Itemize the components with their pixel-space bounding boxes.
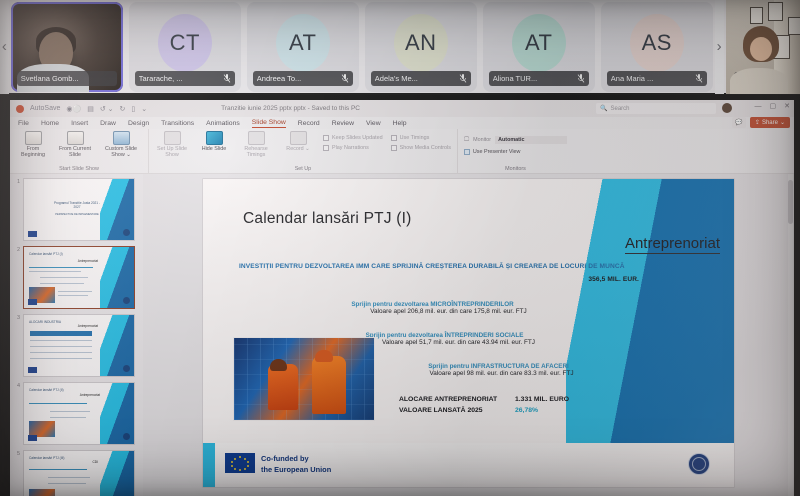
- group-name-start-slide-show: Start Slide Show: [59, 166, 99, 173]
- slide-number: 2: [12, 246, 20, 253]
- ribbon-group-monitors: 🖵 Monitor Automatic Use Presenter View M…: [457, 129, 573, 173]
- play-narrations-label: Play Narrations: [332, 145, 369, 151]
- thumb-seal: [123, 229, 130, 236]
- from-current-slide-button[interactable]: From Current Slide: [58, 131, 92, 158]
- helmet-right: [315, 350, 333, 362]
- thumbnail-row[interactable]: 2 Calendar lansări PTJ (I) Antreprenoria…: [12, 246, 141, 309]
- thumbnail-row[interactable]: 4 Calendar lansări PTJ (II) Antreprenori…: [12, 382, 141, 445]
- ribbon-tabs: File Home Insert Draw Design Transitions…: [10, 117, 794, 129]
- name-chip: Adela's Me...: [371, 71, 471, 86]
- monitor-value[interactable]: Automatic: [495, 136, 567, 144]
- custom-slide-show-button[interactable]: Custom Slide Show ⌄: [100, 131, 142, 158]
- allocation-summary[interactable]: ALOCARE ANTREPRENORIAT 1.331 MIL. EURO V…: [399, 395, 569, 416]
- avatar: AT: [276, 14, 330, 72]
- ribbon: From Beginning From Current Slide Custom…: [10, 129, 794, 174]
- search-icon: 🔍: [600, 105, 607, 112]
- screen-play-icon: [25, 131, 42, 145]
- share-button[interactable]: ⇪ Share ⌄: [750, 117, 790, 128]
- program-block-1[interactable]: Sprijin pentru dezvoltarea MICROÎNTREPRI…: [203, 301, 734, 315]
- slide-number: 1: [12, 178, 20, 185]
- share-icon: ⇪: [755, 119, 760, 126]
- user-avatar[interactable]: [722, 103, 732, 113]
- tab-home[interactable]: Home: [41, 120, 59, 127]
- hide-slide-icon: [206, 131, 223, 145]
- footer-teal-accent: [203, 443, 215, 487]
- participants-next-arrow[interactable]: ›: [715, 0, 724, 94]
- from-beginning-button[interactable]: From Beginning: [16, 131, 50, 158]
- thumb-subtitle: PERSPECTIVE DE IMPLEMENTARE: [50, 213, 104, 216]
- set-up-slide-show-label: Set Up Slide Show: [155, 146, 189, 158]
- participant-tile-self-camera[interactable]: [726, 0, 800, 94]
- share-label: Share: [762, 120, 778, 126]
- allocation-key: VALOARE LANSATĂ 2025: [399, 406, 515, 417]
- avatar: CT: [158, 14, 212, 72]
- use-presenter-view-checkbox[interactable]: Use Presenter View: [464, 149, 521, 155]
- lead-body: INVESTIȚII PENTRU DEZVOLTAREA IMM CARE S…: [239, 263, 625, 270]
- participant-tile-svetlana[interactable]: Svetlana Gomb...: [11, 2, 123, 92]
- rehearse-timings-label: Rehearse Timings: [239, 146, 273, 158]
- eu-line-1: Co-funded by: [261, 454, 331, 464]
- participant-tile-ana-maria[interactable]: AS Ana Maria ...: [601, 2, 713, 92]
- mic-muted-icon: [577, 74, 585, 83]
- slide-title[interactable]: Calendar lansări PTJ (I): [243, 210, 411, 228]
- group-name-monitors: Monitors: [505, 166, 526, 173]
- slide-thumbnail-4[interactable]: Calendar lansări PTJ (II) Antreprenoriat: [23, 382, 135, 445]
- lead-amount: 356,5 MIL. EUR.: [588, 275, 639, 285]
- slide-thumbnail-5[interactable]: Calendar lansări PTJ (III) CDI: [23, 450, 135, 496]
- monitor-label: Monitor: [473, 137, 491, 143]
- thumbnail-row[interactable]: 1 Programul Tranzitie Justa 2021 - 2027 …: [12, 178, 141, 241]
- tab-design[interactable]: Design: [128, 120, 149, 127]
- eu-stars: [225, 453, 255, 473]
- participant-name: Adela's Me...: [375, 74, 455, 83]
- romania-government-seal: [688, 453, 710, 475]
- avatar: AN: [394, 14, 448, 72]
- checkbox-checked-icon: [464, 149, 470, 155]
- mic-muted-icon: [223, 74, 231, 83]
- document-title[interactable]: Tranzitie iunie 2025 pptx pptx - Saved t…: [221, 105, 360, 112]
- name-chip: Aliona TUR...: [489, 71, 589, 86]
- redo-icon[interactable]: ↻: [120, 105, 126, 113]
- tab-view[interactable]: View: [366, 120, 381, 127]
- tab-animations[interactable]: Animations: [206, 120, 240, 127]
- participant-tile-tararache[interactable]: CT Tararache, ...: [129, 2, 241, 92]
- participant-tile-adela[interactable]: AN Adela's Me...: [365, 2, 477, 92]
- custom-show-icon: [113, 131, 130, 145]
- participant-name: Andreea To...: [257, 74, 337, 83]
- group-name-set-up: Set Up: [295, 166, 311, 173]
- title-bar: AutoSave ◉⚪ ▤ ↺ ⌄ ↻ ▯ ⌄ Tranzitie iunie …: [10, 100, 794, 117]
- mic-muted-icon: [459, 74, 467, 83]
- slide-number: 3: [12, 314, 20, 321]
- from-current-slide-label: From Current Slide: [58, 146, 92, 158]
- avatar: AT: [512, 14, 566, 72]
- close-button[interactable]: ✕: [784, 102, 790, 110]
- edit-area: 1 Programul Tranzitie Justa 2021 - 2027 …: [10, 174, 794, 496]
- maximize-button[interactable]: ▢: [770, 102, 777, 110]
- worker-right: [312, 356, 346, 414]
- ribbon-group-start-slide-show: From Beginning From Current Slide Custom…: [10, 129, 148, 173]
- helmet-left: [270, 359, 287, 371]
- worker-left: [268, 364, 298, 410]
- workers-photo[interactable]: [233, 337, 375, 421]
- thumb-subtitle: Antreprenoriat: [78, 259, 98, 263]
- participant-tiles: Svetlana Gomb... CT Tararache, ... AT An…: [9, 0, 715, 94]
- checkbox-box-icon: [391, 145, 397, 151]
- video-call-strip: ‹ Svetlana Gomb... CT Tararache, ... AT: [0, 0, 800, 95]
- hide-slide-label: Hide Slide: [202, 146, 227, 152]
- autosave-toggle[interactable]: ◉⚪: [66, 105, 81, 113]
- eu-funding-text: Co-funded by the European Union: [261, 454, 331, 475]
- allocation-row: VALOARE LANSATĂ 2025 26,78%: [399, 406, 569, 417]
- rehearse-timings-button[interactable]: Rehearse Timings: [239, 131, 273, 158]
- powerpoint-window: AutoSave ◉⚪ ▤ ↺ ⌄ ↻ ▯ ⌄ Tranzitie iunie …: [10, 100, 794, 496]
- thumb-seal: [123, 365, 130, 372]
- autosave-label[interactable]: AutoSave: [30, 105, 60, 112]
- eu-flag-icon: [225, 453, 255, 473]
- slide-thumbnail-3[interactable]: ALOCARI INDUSTRIA Antreprenoriat: [23, 314, 135, 377]
- thumb-title: ALOCARI INDUSTRIA: [29, 320, 61, 324]
- thumb-title: Calendar lansări PTJ (I): [29, 252, 63, 256]
- webcam-face: [750, 37, 772, 61]
- mic-muted-icon: [341, 74, 349, 83]
- mic-muted-icon: [695, 74, 703, 83]
- show-media-controls-checkbox[interactable]: Show Media Controls: [391, 145, 451, 151]
- thumb-title: Programul Tranzitie Justa 2021 - 2027: [50, 201, 104, 209]
- checkbox-box-icon: [323, 145, 329, 151]
- monitor-icon: 🖵: [464, 137, 469, 144]
- setup-checkbox-column-1: Keep Slides Updated Play Narrations: [323, 131, 383, 151]
- tab-file[interactable]: File: [18, 120, 29, 127]
- tab-insert[interactable]: Insert: [71, 120, 88, 127]
- block-value: Valoare apel 206,8 mil. eur. din care 17…: [203, 308, 734, 315]
- scrollbar-thumb[interactable]: [788, 180, 793, 224]
- customize-qat-icon[interactable]: ⌄: [141, 105, 147, 113]
- webcam-body: [730, 68, 788, 94]
- photo-grid-overlay: [234, 338, 374, 420]
- thumb-eu-flag: [28, 231, 37, 237]
- record-icon: [290, 131, 307, 145]
- tab-slide-show[interactable]: Slide Show: [252, 119, 286, 128]
- name-chip: Andreea To...: [253, 71, 353, 86]
- keep-slides-updated-checkbox[interactable]: Keep Slides Updated: [323, 135, 383, 141]
- from-beginning-label: From Beginning: [16, 146, 50, 158]
- name-chip: Tararache, ...: [135, 71, 235, 86]
- thumb-wave: [100, 451, 134, 496]
- wall-frame: [768, 2, 783, 21]
- ribbon-group-set-up: Set Up Slide Show Hide Slide Rehearse Ti…: [148, 129, 457, 173]
- wall-frame: [788, 17, 800, 35]
- checkbox-box-icon: [391, 135, 397, 141]
- share-chevron-down-icon: ⌄: [780, 119, 785, 126]
- slide-lead-text[interactable]: INVESTIȚII PENTRU DEZVOLTAREA IMM CARE S…: [239, 262, 659, 272]
- thumb-seal: [123, 433, 130, 440]
- thumbnail-row[interactable]: 5 Calendar lansări PTJ (III) CDI: [12, 450, 141, 496]
- tab-draw[interactable]: Draw: [100, 120, 116, 127]
- setup-show-icon: [164, 131, 181, 145]
- allocation-row: ALOCARE ANTREPRENORIAT 1.331 MIL. EURO: [399, 395, 569, 406]
- thumb-eu-flag: [28, 299, 37, 305]
- participant-name: Ana Maria ...: [611, 74, 691, 83]
- keep-slides-updated-label: Keep Slides Updated: [332, 135, 383, 141]
- avatar: AS: [630, 14, 684, 72]
- participant-name: Aliona TUR...: [493, 74, 573, 83]
- save-icon[interactable]: ▤: [87, 105, 94, 113]
- thumb-subtitle: Antreprenoriat: [78, 324, 98, 328]
- record-button[interactable]: Record ⌄: [281, 131, 315, 152]
- current-slide[interactable]: Calendar lansări PTJ (I) Antreprenoriat …: [203, 179, 734, 487]
- allocation-value: 1.331 MIL. EURO: [515, 395, 569, 406]
- name-chip: Svetlana Gomb...: [17, 71, 117, 86]
- thumb-subtitle: Antreprenoriat: [80, 393, 100, 397]
- thumbnail-row[interactable]: 3 ALOCARI INDUSTRIA Antreprenoriat: [12, 314, 141, 377]
- name-chip: Ana Maria ...: [607, 71, 707, 86]
- monitor-selector[interactable]: 🖵 Monitor Automatic: [464, 136, 567, 144]
- thumb-seal: [123, 297, 130, 304]
- tab-review[interactable]: Review: [332, 120, 354, 127]
- share-bar: 💬 ⇪ Share ⌄: [732, 117, 790, 128]
- eu-line-2: the European Union: [261, 465, 331, 475]
- participant-tile-aliona[interactable]: AT Aliona TUR...: [483, 2, 595, 92]
- app-logo-icon: [16, 105, 24, 113]
- tab-transitions[interactable]: Transitions: [161, 120, 194, 127]
- checkbox-box-icon: [323, 135, 329, 141]
- screen-current-icon: [67, 131, 84, 145]
- vertical-scrollbar[interactable]: [788, 174, 793, 496]
- minimize-button[interactable]: —: [755, 103, 762, 110]
- slide-number: 5: [12, 450, 20, 457]
- slide-canvas-area: Calendar lansări PTJ (I) Antreprenoriat …: [143, 174, 794, 496]
- thumb-subtitle: CDI: [93, 460, 99, 464]
- screen-photo: ‹ Svetlana Gomb... CT Tararache, ... AT: [0, 0, 800, 496]
- play-narrations-checkbox[interactable]: Play Narrations: [323, 145, 383, 151]
- participants-prev-arrow[interactable]: ‹: [0, 0, 9, 94]
- thumb-title: Calendar lansări PTJ (II): [29, 388, 64, 392]
- slide-footer: Co-funded by the European Union: [203, 443, 734, 487]
- slide-thumbnail-1[interactable]: Programul Tranzitie Justa 2021 - 2027 PE…: [23, 178, 135, 241]
- custom-slide-show-label: Custom Slide Show ⌄: [100, 146, 142, 158]
- slide-thumbnail-pane[interactable]: 1 Programul Tranzitie Justa 2021 - 2027 …: [10, 174, 143, 496]
- participant-tile-andreea[interactable]: AT Andreea To...: [247, 2, 359, 92]
- participant-name: Svetlana Gomb...: [21, 74, 113, 83]
- show-media-controls-label: Show Media Controls: [400, 145, 451, 151]
- tab-record[interactable]: Record: [298, 120, 320, 127]
- slide-subtitle[interactable]: Antreprenoriat: [625, 235, 720, 254]
- block-heading: Sprijin pentru dezvoltarea MICROÎNTREPRI…: [203, 301, 734, 308]
- present-icon[interactable]: ▯: [131, 105, 135, 113]
- use-presenter-view-label: Use Presenter View: [473, 149, 521, 155]
- slide-thumbnail-2[interactable]: Calendar lansări PTJ (I) Antreprenoriat: [23, 246, 135, 309]
- rehearse-icon: [248, 131, 265, 145]
- use-timings-checkbox[interactable]: Use Timings: [391, 135, 451, 141]
- thumb-eu-flag: [28, 367, 37, 373]
- allocation-key: ALOCARE ANTREPRENORIAT: [399, 395, 515, 406]
- record-label: Record ⌄: [286, 146, 309, 152]
- undo-icon[interactable]: ↺ ⌄: [100, 105, 114, 113]
- thumb-title: Calendar lansări PTJ (III): [29, 456, 64, 460]
- comments-button[interactable]: 💬: [732, 117, 746, 128]
- window-controls: — ▢ ✕: [755, 102, 791, 110]
- wall-frame: [750, 7, 763, 24]
- thumb-eu-flag: [28, 435, 37, 441]
- slide-number: 4: [12, 382, 20, 389]
- use-timings-label: Use Timings: [400, 135, 430, 141]
- participant-name: Tararache, ...: [139, 74, 219, 83]
- search-input[interactable]: 🔍 Search: [596, 103, 716, 114]
- setup-checkbox-column-2: Use Timings Show Media Controls: [391, 131, 451, 151]
- seal-inner-ring: [692, 457, 706, 471]
- tab-help[interactable]: Help: [393, 120, 407, 127]
- allocation-value-highlight: 26,78%: [515, 406, 538, 417]
- hide-slide-button[interactable]: Hide Slide: [197, 131, 231, 152]
- set-up-slide-show-button[interactable]: Set Up Slide Show: [155, 131, 189, 158]
- search-placeholder: Search: [610, 106, 629, 112]
